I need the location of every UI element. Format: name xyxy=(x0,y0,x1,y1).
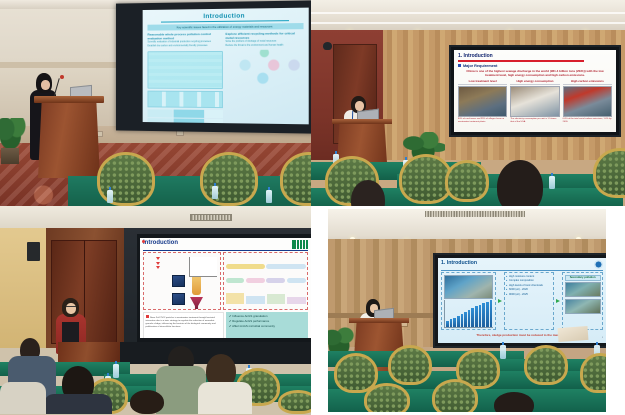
slide-2-photo xyxy=(458,86,507,117)
arrow-right-icon xyxy=(556,299,560,303)
slide-4-title: 1. Introduction xyxy=(441,260,477,266)
slide-1: Introduction Key scientific issues faced… xyxy=(143,8,309,125)
list-item: ▸9000 (wt) - 2025 xyxy=(506,293,552,298)
slide-4-header: 1. Introduction xyxy=(441,260,603,269)
display-screen-bezel: Introduction xyxy=(137,234,311,344)
eyeglasses-icon xyxy=(66,306,76,308)
bullet-square-icon xyxy=(458,64,461,67)
podium-top xyxy=(349,318,409,323)
slide-4-bar-chart xyxy=(444,300,494,328)
water-bottle xyxy=(500,345,506,359)
slide-3-pill-row xyxy=(226,278,306,283)
chair xyxy=(200,152,258,206)
security-camera-icon xyxy=(323,42,332,50)
presentation-photo-3[interactable]: Introduction xyxy=(0,206,311,415)
slide-3-inset-plot xyxy=(189,257,217,277)
loudspeaker-icon xyxy=(27,242,40,261)
slide-2-image-caption: High energy consumption xyxy=(510,79,559,85)
slide-2-image-block: Low treatment level 80% of rural towns a… xyxy=(458,79,507,124)
bullet-dot-icon xyxy=(142,240,145,243)
chair xyxy=(278,390,311,414)
projector-screen-bezel: 1. Introduction Major Requirement China … xyxy=(449,45,621,137)
chair xyxy=(364,383,410,412)
slide-3-instrument-photo xyxy=(172,275,185,287)
slide-2-image-caption: Low treatment level xyxy=(458,79,507,85)
slide-2-photo xyxy=(510,86,559,117)
audience-member-body xyxy=(44,394,112,414)
chair xyxy=(388,345,432,385)
water-bottle xyxy=(107,190,113,203)
slide-4-photo-pollution xyxy=(565,299,601,314)
presentation-photo-2[interactable]: 1. Introduction Major Requirement China … xyxy=(311,0,625,206)
slide-3-note: Nano ZnO/TiO2 particles in wastewater tr… xyxy=(143,312,224,338)
slide-2-title: 1. Introduction xyxy=(458,53,612,59)
slide-4-panel-chart xyxy=(441,272,496,330)
audience-member xyxy=(494,392,534,412)
slide-3-left-panel xyxy=(143,252,221,310)
slide-3-icon-row xyxy=(226,290,306,304)
audience-member xyxy=(351,180,385,206)
slide-2: 1. Introduction Major Requirement China … xyxy=(454,50,616,132)
slide-1-title-rule xyxy=(161,20,289,23)
audience-member-body xyxy=(0,382,46,414)
slide-3-footer-row: Nano ZnO/TiO2 particles in wastewater tr… xyxy=(143,312,308,338)
presentation-photo-4[interactable]: 1. Introduction xyxy=(311,206,625,415)
photo-2-scene: 1. Introduction Major Requirement China … xyxy=(311,0,625,206)
slide-1-subtitle: Key scientific issues faced in the utili… xyxy=(147,23,303,30)
slide-3-header: Introduction xyxy=(143,240,308,249)
slide-3-pill-row xyxy=(226,264,306,269)
photo-4-scene: 1. Introduction xyxy=(311,206,625,415)
slide-4-panels: ▸High moisture content ▸Complex composit… xyxy=(441,272,603,330)
photo-3-scene: Introduction xyxy=(0,206,311,415)
photo-grid: Introduction Key scientific issues faced… xyxy=(0,0,625,415)
slide-3-checklist-box: ✔ Influence AnGS granulation ✔ Regulate … xyxy=(226,312,308,338)
arrow-down-icon xyxy=(156,257,160,260)
institution-logo-icon xyxy=(292,240,308,249)
chair xyxy=(432,379,478,412)
water-bottle xyxy=(113,364,119,378)
slide-4-secondary-caption: Secondary pollution xyxy=(565,275,601,281)
slide-1-columns: Reasonable whole process pollution contr… xyxy=(147,31,303,124)
chair xyxy=(445,160,489,202)
slide-1-column-right: Explore efficient recycling methods for … xyxy=(225,31,303,124)
slide-3-body xyxy=(143,252,308,310)
podium-top xyxy=(34,96,104,103)
slide-2-photo xyxy=(563,86,612,117)
chair xyxy=(524,345,568,385)
slide-2-image-note: 0.8% of the total social carbon emission… xyxy=(563,118,612,124)
audience-member xyxy=(130,390,164,414)
slide-1-network-diagram xyxy=(225,49,303,86)
chair xyxy=(280,152,311,206)
photo-4-frame: 1. Introduction xyxy=(328,209,606,412)
plant-pot xyxy=(1,148,19,164)
arrow-down-icon xyxy=(156,266,160,269)
slide-2-title-rule xyxy=(458,60,584,62)
slide-1-left-heading: Reasonable whole process pollution contr… xyxy=(147,32,222,41)
slide-4-bullet-list: ▸High moisture content ▸Complex composit… xyxy=(506,275,552,298)
water-bottle xyxy=(266,190,272,203)
university-seal-logo-icon xyxy=(594,260,603,269)
slide-1-left-bullet: Scientific evaluation of industrial prod… xyxy=(147,41,222,45)
presenter-face xyxy=(66,303,76,314)
slide-3-right-panel xyxy=(223,252,308,310)
slide-2-section-heading: Major Requirement xyxy=(463,64,497,68)
audience-member xyxy=(497,160,543,206)
slide-3-flask-graphic xyxy=(190,297,203,309)
water-bottle xyxy=(549,176,555,189)
presenter-face xyxy=(355,101,364,111)
slide-2-image-caption: High carbon emissions xyxy=(563,79,612,85)
slide-1-right-heading: Explore efficient recycling methods for … xyxy=(225,31,303,40)
side-wall xyxy=(0,228,52,348)
slide-1-left-bullet: Establish low carbon and environmentally… xyxy=(147,45,222,49)
slide-2-section: Major Requirement xyxy=(458,64,612,68)
slide-3-instrument-photo xyxy=(172,293,185,305)
air-vent xyxy=(425,211,525,217)
slide-1-right-bullet: Solve the problem of shortage of metal r… xyxy=(225,41,303,45)
chair xyxy=(580,353,606,393)
slide-4-title-rule xyxy=(441,270,603,271)
arrow-right-icon xyxy=(498,299,502,303)
slide-1-flow-diagram-2 xyxy=(147,90,222,107)
slide-2-image-block: High energy consumption The electricity … xyxy=(510,79,559,124)
display-screen-bezel: Introduction Key scientific issues faced… xyxy=(116,0,311,133)
chair xyxy=(97,152,155,206)
slide-1-column-left: Reasonable whole process pollution contr… xyxy=(147,32,222,125)
slide-3-arrow-stack xyxy=(156,257,160,271)
presenter-face xyxy=(41,80,50,90)
slide-2-image-note: 80% of rural towns and 95% of villages h… xyxy=(458,118,507,124)
podium xyxy=(38,100,100,178)
slide-1-table xyxy=(147,109,222,125)
slide-3: Introduction xyxy=(140,238,311,338)
slide-1-flow-diagram xyxy=(147,50,222,88)
slide-3-checklist-item: ✔ Affect AnGS microbial community xyxy=(229,324,305,329)
chair xyxy=(593,148,625,198)
arrow-down-icon xyxy=(156,262,160,265)
table-row xyxy=(147,118,222,123)
presentation-photo-1[interactable]: Introduction Key scientific issues faced… xyxy=(0,0,311,206)
table-row xyxy=(147,123,222,124)
photo-1-scene: Introduction Key scientific issues faced… xyxy=(0,0,311,206)
slide-2-image-row: Low treatment level 80% of rural towns a… xyxy=(458,79,612,124)
slide-2-image-block: High carbon emissions 0.8% of the total … xyxy=(563,79,612,124)
slide-4-panel-bullets: ▸High moisture content ▸Complex composit… xyxy=(504,272,555,330)
slide-2-image-note: The electricity consumption per unit is … xyxy=(510,118,559,124)
slide-2-paragraph: China is one of the highest sewage disch… xyxy=(461,69,609,78)
water-bottle xyxy=(212,186,218,199)
slide-4-panel-secondary: Secondary pollution xyxy=(562,272,603,330)
air-vent xyxy=(190,214,232,221)
podium-top xyxy=(332,119,392,124)
paper-stack xyxy=(558,326,589,342)
slide-3-title-rule xyxy=(143,250,308,251)
slide-3-title: Introduction xyxy=(143,240,178,246)
slide-4-photo-pollution xyxy=(565,282,601,297)
bullet-dot-icon xyxy=(146,315,149,318)
slide-1-right-bullet: Reduce the threat to the environment and… xyxy=(225,45,303,49)
slide-4-photo-pond xyxy=(444,275,494,299)
microphone-icon xyxy=(60,75,64,79)
audience-member-body xyxy=(198,382,252,414)
